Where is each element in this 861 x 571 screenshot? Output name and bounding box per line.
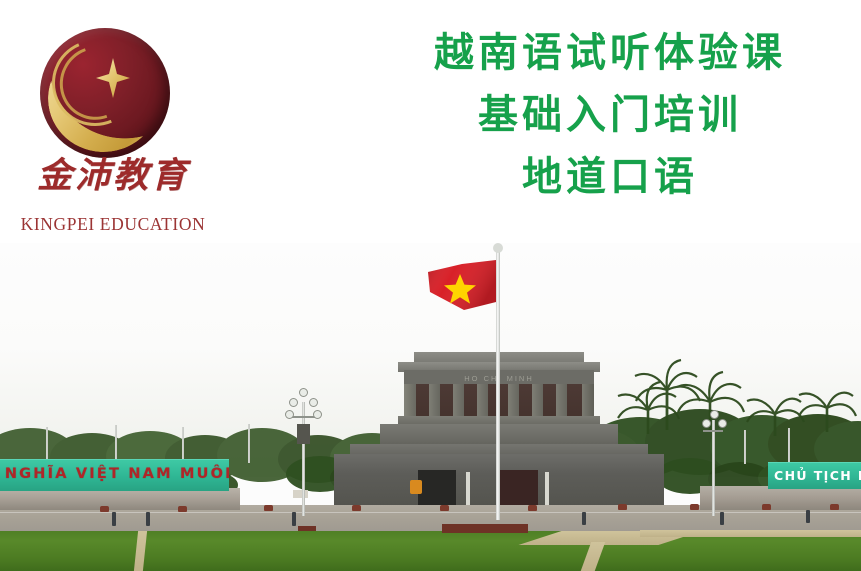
brand-name-chinese: 金沛教育	[10, 158, 216, 193]
planter	[762, 504, 771, 510]
banner-right: CHỦ TỊCH HỒ	[768, 462, 861, 489]
brand-name-english: KINGPEI EDUCATION	[10, 214, 216, 235]
column	[582, 384, 594, 418]
mausoleum-entrance-left	[418, 470, 456, 510]
entrance-lamp-icon	[410, 480, 422, 494]
kingpei-crescent-star-emblem-icon	[40, 28, 170, 158]
pedestrian	[112, 512, 116, 526]
planter	[618, 504, 627, 510]
headline-line-1: 越南语试听体验课	[395, 33, 825, 73]
planter	[440, 505, 449, 511]
planter	[264, 505, 273, 511]
honor-guard	[466, 472, 470, 506]
mausoleum-entrance-right	[500, 470, 538, 510]
column	[453, 384, 464, 418]
headline-block: 越南语试听体验课 基础入门培训 地道口语	[395, 33, 825, 197]
planter	[178, 506, 187, 512]
column	[477, 384, 488, 418]
flag-mast	[115, 425, 117, 463]
plaza-bench	[298, 526, 316, 531]
planter	[352, 505, 361, 511]
flag-mast	[248, 424, 250, 463]
column	[556, 384, 567, 418]
planter	[690, 504, 699, 510]
column	[404, 384, 416, 418]
flag-mast	[788, 428, 790, 464]
planter	[528, 505, 537, 511]
plaza-lamp-post	[285, 388, 321, 516]
column	[532, 384, 543, 418]
flag-mast	[182, 427, 184, 463]
plaza-kerb-line	[0, 512, 861, 513]
pedestrian	[806, 510, 810, 523]
pedestrian	[292, 512, 296, 526]
headline-line-2: 基础入门培训	[395, 95, 825, 135]
pedestrian	[720, 512, 724, 525]
plaza-bench	[442, 524, 528, 533]
column	[429, 384, 440, 418]
poster-root: 金沛教育 KINGPEI EDUCATION 越南语试听体验课 基础入门培训 地…	[0, 0, 861, 571]
lawn	[0, 531, 861, 571]
flagpole	[496, 248, 500, 520]
vietnam-flag-icon	[424, 258, 498, 316]
planter	[100, 506, 109, 512]
brand-logo: 金沛教育 KINGPEI EDUCATION	[8, 18, 218, 233]
flagpole-finial	[493, 243, 503, 253]
poster-header: 金沛教育 KINGPEI EDUCATION 越南语试听体验课 基础入门培训 地…	[0, 0, 861, 243]
flag-mast	[46, 427, 48, 463]
four-point-star-icon	[96, 58, 130, 98]
lawn-path-edge	[640, 530, 861, 537]
hero-photo: HO CHI MINH J NGHĨA V	[0, 242, 861, 571]
honor-guard	[545, 472, 549, 506]
banner-left-text: J NGHĨA VIỆT NAM MUÔN NĂM !	[0, 466, 229, 482]
planter	[830, 504, 839, 510]
headline-line-3: 地道口语	[395, 157, 825, 197]
grandstand-left	[0, 488, 240, 510]
column	[508, 384, 519, 418]
plaza-lamp-post	[700, 410, 726, 516]
flag-mast	[744, 430, 746, 464]
banner-right-text: CHỦ TỊCH HỒ	[774, 468, 861, 483]
banner-left: J NGHĨA VIỆT NAM MUÔN NĂM !	[0, 459, 229, 491]
pedestrian	[146, 512, 150, 526]
pedestrian	[582, 512, 586, 525]
